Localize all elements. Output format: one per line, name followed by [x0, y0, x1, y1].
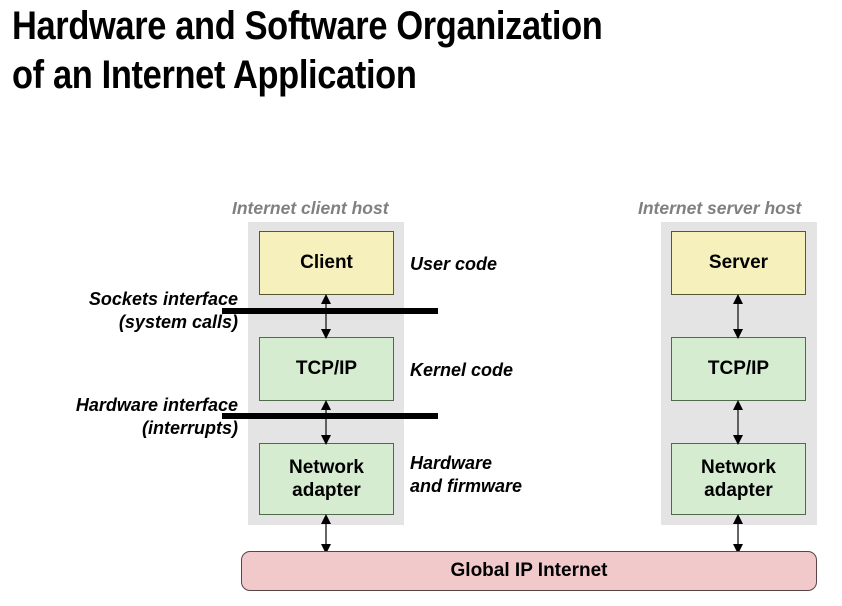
user-code-label: User code	[410, 253, 497, 276]
client-app-tcp-arrow-icon	[319, 294, 333, 339]
hardware-interface-line	[222, 413, 438, 419]
server-network-adapter-box[interactable]: Network adapter	[671, 443, 806, 515]
server-application-box[interactable]: Server	[671, 231, 806, 295]
global-ip-internet-bar[interactable]: Global IP Internet	[241, 551, 817, 591]
page-title: Hardware and Software Organization of an…	[12, 2, 700, 100]
server-tcpip-box[interactable]: TCP/IP	[671, 337, 806, 401]
sockets-interface-line	[222, 308, 438, 314]
server-nic-internet-arrow-icon	[731, 514, 745, 554]
server-app-tcp-arrow-icon	[731, 294, 745, 339]
hardware-firmware-label: Hardware and firmware	[410, 452, 522, 498]
client-nic-internet-arrow-icon	[319, 514, 333, 554]
kernel-code-label: Kernel code	[410, 359, 513, 382]
client-network-adapter-box[interactable]: Network adapter	[259, 443, 394, 515]
server-host-caption: Internet server host	[638, 198, 801, 219]
server-tcp-nic-arrow-icon	[731, 400, 745, 445]
client-application-box[interactable]: Client	[259, 231, 394, 295]
client-tcpip-box[interactable]: TCP/IP	[259, 337, 394, 401]
sockets-interface-label: Sockets interface (system calls)	[89, 288, 238, 334]
hardware-interface-label: Hardware interface (interrupts)	[76, 394, 238, 440]
client-host-caption: Internet client host	[232, 198, 389, 219]
client-tcp-nic-arrow-icon	[319, 400, 333, 445]
